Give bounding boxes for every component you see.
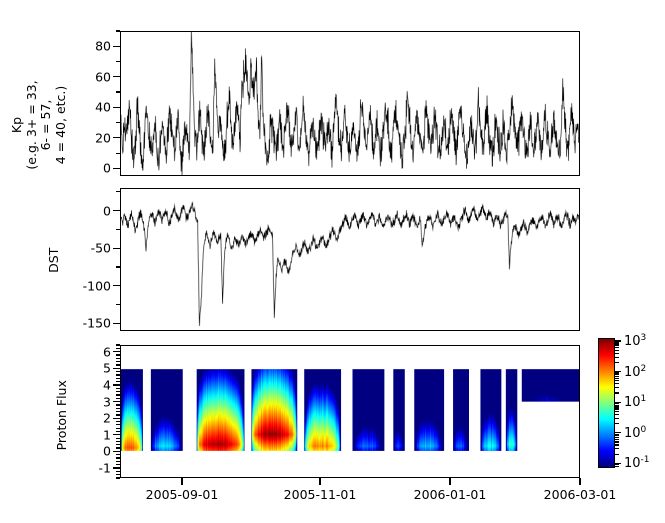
colorbar-mantissa-1: 10 bbox=[624, 426, 641, 441]
kp-ticklabel-0: 0 bbox=[103, 161, 111, 176]
colorbar-minortick bbox=[615, 405, 619, 406]
proton-axis-title: Proton Flux bbox=[55, 360, 70, 470]
proton-tick-6 bbox=[113, 368, 120, 369]
proton-minortick bbox=[116, 408, 120, 409]
proton-minortick bbox=[116, 444, 120, 445]
kp-tick-3 bbox=[113, 76, 120, 77]
colorbar-minortick bbox=[615, 434, 619, 435]
proton-tick-2 bbox=[113, 434, 120, 435]
colorbar-minortick bbox=[615, 374, 619, 375]
dst-minortick bbox=[116, 266, 120, 267]
dst-tick-2 bbox=[113, 248, 120, 249]
dst-ticklabel-1: -100 bbox=[83, 278, 111, 293]
proton-minortick bbox=[116, 398, 120, 399]
colorbar-exponent-0: -1 bbox=[641, 455, 650, 465]
kp-tick-4 bbox=[113, 46, 120, 47]
proton-minortick bbox=[116, 447, 120, 448]
proton-minortick bbox=[116, 354, 120, 355]
colorbar-minortick bbox=[615, 464, 619, 465]
colorbar-exponent-1: 0 bbox=[641, 425, 647, 435]
kp-title-line3: 6- = 57, bbox=[39, 60, 54, 190]
colorbar-minortick bbox=[615, 350, 619, 351]
colorbar-axis: 10-1100101102103 bbox=[615, 338, 665, 468]
colorbar-mantissa-2: 10 bbox=[624, 395, 641, 410]
colorbar-ticklabel-4: 103 bbox=[624, 333, 646, 349]
colorbar-minortick bbox=[615, 353, 619, 354]
proton-minortick bbox=[116, 348, 120, 349]
colorbar-minortick bbox=[615, 383, 619, 384]
proton-tick-1 bbox=[113, 451, 120, 452]
proton-minortick bbox=[116, 457, 120, 458]
proton-minortick bbox=[116, 461, 120, 462]
colorbar-minortick bbox=[615, 454, 619, 455]
kp-title-line1: Kp bbox=[10, 60, 25, 190]
proton-minortick bbox=[116, 378, 120, 379]
colorbar-ticklabel-1: 100 bbox=[624, 425, 646, 441]
dst-minortick bbox=[116, 191, 120, 192]
proton-minortick bbox=[116, 454, 120, 455]
colorbar-minortick bbox=[615, 466, 619, 467]
proton-ticklabel-3: 2 bbox=[103, 411, 111, 426]
proton-tick-5 bbox=[113, 384, 120, 385]
proton-tick-4 bbox=[113, 401, 120, 402]
kp-tick-2 bbox=[113, 107, 120, 108]
kp-ticklabel-3: 60 bbox=[95, 69, 111, 84]
x-ticklabel-1: 2005-11-01 bbox=[284, 487, 357, 502]
colorbar-mantissa-0: 10 bbox=[624, 457, 641, 472]
x-tick-3 bbox=[579, 478, 580, 485]
colorbar-minortick bbox=[615, 435, 619, 436]
colorbar-minortick bbox=[615, 380, 619, 381]
colorbar-minortick bbox=[615, 448, 619, 449]
kp-minortick bbox=[116, 122, 120, 123]
proton-minortick bbox=[116, 388, 120, 389]
colorbar-minortick bbox=[615, 411, 619, 412]
dst-tick-3 bbox=[113, 210, 120, 211]
proton-ticklabel-0: -1 bbox=[99, 461, 111, 476]
colorbar-exponent-2: 1 bbox=[641, 394, 647, 404]
colorbar-minortick bbox=[615, 439, 619, 440]
dst-minortick bbox=[116, 304, 120, 305]
proton-minortick bbox=[116, 474, 120, 475]
dst-ticklabel-2: -50 bbox=[91, 241, 111, 256]
panel-kp bbox=[120, 31, 580, 176]
x-ticklabel-0: 2005-09-01 bbox=[146, 487, 219, 502]
x-tick-1 bbox=[319, 478, 320, 485]
kp-minortick bbox=[116, 61, 120, 62]
proton-tick-0 bbox=[113, 467, 120, 468]
colorbar-minortick bbox=[615, 387, 619, 388]
proton-ticklabel-1: 0 bbox=[103, 444, 111, 459]
proton-minortick bbox=[116, 358, 120, 359]
kp-minortick bbox=[116, 91, 120, 92]
proton-minortick bbox=[116, 414, 120, 415]
colorbar-minortick bbox=[615, 362, 619, 363]
proton-minortick bbox=[116, 391, 120, 392]
kp-title-line4: 4 = 40, etc.) bbox=[54, 60, 69, 190]
dst-minortick bbox=[116, 229, 120, 230]
proton-plot-canvas bbox=[121, 346, 579, 477]
colorbar-minortick bbox=[615, 403, 619, 404]
proton-minortick bbox=[116, 344, 120, 345]
proton-ticklabel-5: 4 bbox=[103, 377, 111, 392]
panel-dst bbox=[120, 188, 580, 331]
kp-ticklabel-4: 80 bbox=[95, 39, 111, 54]
colorbar-minortick bbox=[615, 441, 619, 442]
x-tick-0 bbox=[181, 478, 182, 485]
kp-minortick bbox=[116, 30, 120, 31]
dst-y-axis: -150-100-500 bbox=[90, 188, 120, 331]
proton-minortick bbox=[116, 424, 120, 425]
proton-minortick bbox=[116, 438, 120, 439]
proton-ticklabel-7: 6 bbox=[103, 344, 111, 359]
dst-plot-canvas bbox=[121, 189, 579, 330]
proton-minortick bbox=[116, 364, 120, 365]
colorbar-gradient bbox=[599, 339, 614, 467]
dst-title-text: DST bbox=[47, 230, 62, 290]
kp-ticklabel-1: 20 bbox=[95, 130, 111, 145]
kp-plot-canvas bbox=[121, 32, 579, 175]
kp-ticklabel-2: 40 bbox=[95, 100, 111, 115]
colorbar-ticklabel-0: 10-1 bbox=[624, 455, 650, 471]
colorbar-exponent-3: 2 bbox=[641, 363, 647, 373]
proton-minortick bbox=[116, 371, 120, 372]
dst-tick-0 bbox=[113, 323, 120, 324]
x-ticklabel-3: 2006-03-01 bbox=[544, 487, 617, 502]
panel-proton bbox=[120, 345, 580, 478]
dst-ticklabel-3: 0 bbox=[103, 203, 111, 218]
kp-minortick bbox=[116, 153, 120, 154]
colorbar-ticklabel-3: 102 bbox=[624, 363, 646, 379]
proton-minortick bbox=[116, 374, 120, 375]
proton-minortick bbox=[116, 421, 120, 422]
colorbar-minortick bbox=[615, 378, 619, 379]
colorbar-minortick bbox=[615, 392, 619, 393]
colorbar-minortick bbox=[615, 408, 619, 409]
proton-tick-7 bbox=[113, 351, 120, 352]
dst-axis-title: DST bbox=[47, 230, 62, 290]
proton-minortick bbox=[116, 431, 120, 432]
kp-y-axis: 020406080 bbox=[90, 31, 120, 176]
figure-root: 020406080 Kp (e.g. 3+ = 33, 6- = 57, 4 =… bbox=[0, 0, 665, 523]
colorbar-minortick bbox=[615, 343, 619, 344]
proton-ticklabel-4: 3 bbox=[103, 394, 111, 409]
proton-minortick bbox=[116, 361, 120, 362]
colorbar-exponent-4: 3 bbox=[641, 333, 647, 343]
x-axis: 2005-09-012005-11-012006-01-012006-03-01 bbox=[120, 478, 580, 508]
proton-minortick bbox=[116, 464, 120, 465]
colorbar-minortick bbox=[615, 345, 619, 346]
colorbar-minortick bbox=[615, 372, 619, 373]
proton-minortick bbox=[116, 381, 120, 382]
colorbar-minortick bbox=[615, 376, 619, 377]
colorbar-minortick bbox=[615, 406, 619, 407]
proton-ticklabel-6: 5 bbox=[103, 361, 111, 376]
colorbar-minortick bbox=[615, 423, 619, 424]
colorbar-minortick bbox=[615, 342, 619, 343]
colorbar-minortick bbox=[615, 418, 619, 419]
proton-ticklabel-2: 1 bbox=[103, 427, 111, 442]
proton-minortick bbox=[116, 428, 120, 429]
colorbar-ticklabel-2: 101 bbox=[624, 394, 646, 410]
x-ticklabel-2: 2006-01-01 bbox=[414, 487, 487, 502]
kp-title-line2: (e.g. 3+ = 33, bbox=[25, 60, 40, 190]
colorbar-minortick bbox=[615, 414, 619, 415]
colorbar-mantissa-3: 10 bbox=[624, 365, 641, 380]
colorbar bbox=[598, 338, 615, 468]
colorbar-minortick bbox=[615, 437, 619, 438]
dst-ticklabel-0: -150 bbox=[83, 316, 111, 331]
proton-minortick bbox=[116, 394, 120, 395]
proton-minortick bbox=[116, 404, 120, 405]
proton-minortick bbox=[116, 471, 120, 472]
x-tick-2 bbox=[449, 478, 450, 485]
proton-y-axis: -10123456 bbox=[90, 345, 120, 478]
proton-minortick bbox=[116, 411, 120, 412]
kp-tick-1 bbox=[113, 137, 120, 138]
colorbar-minortick bbox=[615, 347, 619, 348]
dst-tick-1 bbox=[113, 285, 120, 286]
colorbar-mantissa-4: 10 bbox=[624, 334, 641, 349]
colorbar-minortick bbox=[615, 444, 619, 445]
colorbar-minortick bbox=[615, 357, 619, 358]
kp-tick-0 bbox=[113, 168, 120, 169]
proton-minortick bbox=[116, 441, 120, 442]
kp-axis-title: Kp (e.g. 3+ = 33, 6- = 57, 4 = 40, etc.) bbox=[10, 60, 68, 190]
proton-title-text: Proton Flux bbox=[55, 360, 70, 470]
proton-tick-3 bbox=[113, 418, 120, 419]
